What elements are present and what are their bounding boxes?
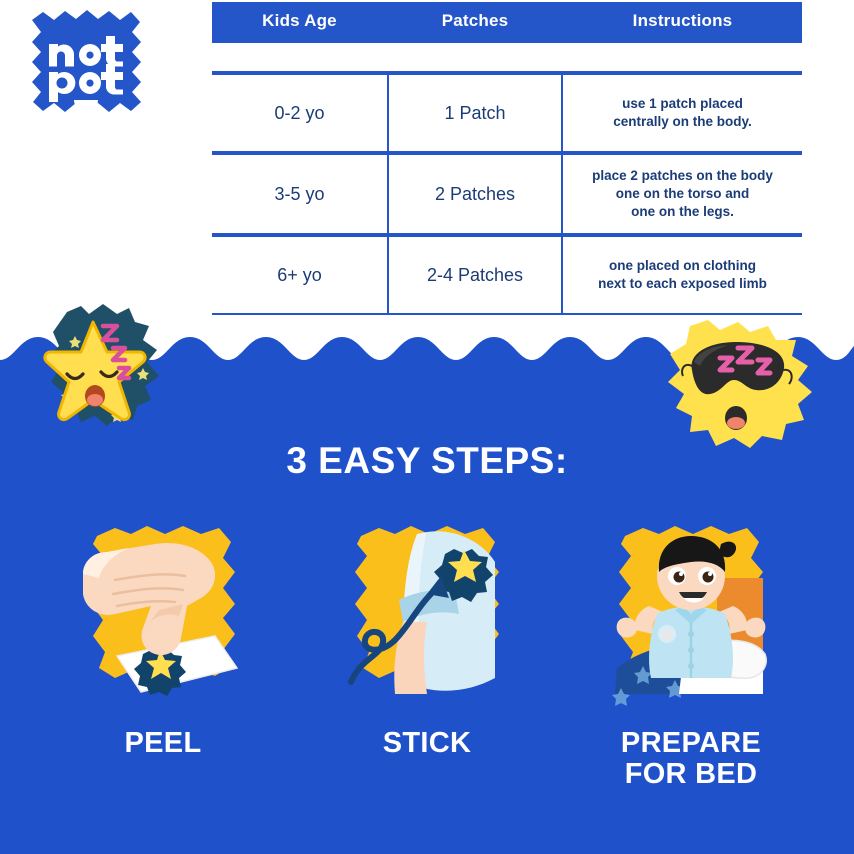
child-in-bed-icon	[587, 518, 795, 714]
cell-instructions: one placed on clothingnext to each expos…	[563, 235, 802, 315]
header-spacer-cell	[212, 41, 802, 73]
dosage-table: Kids Age Patches Instructions 0-2 yo 1 P…	[212, 2, 802, 315]
col-header-instructions: Instructions	[563, 2, 802, 41]
table-body: 0-2 yo 1 Patch use 1 patch placedcentral…	[212, 41, 802, 315]
natpat-logo[interactable]	[22, 4, 148, 126]
cell-patches: 2 Patches	[387, 153, 563, 235]
table-head: Kids Age Patches Instructions	[212, 2, 802, 41]
col-header-patches: Patches	[387, 2, 563, 41]
step-stick: STICK	[311, 518, 543, 791]
cell-instructions: use 1 patch placedcentrally on the body.	[563, 73, 802, 153]
cell-patches: 1 Patch	[387, 73, 563, 153]
cell-age: 3-5 yo	[212, 153, 387, 235]
patch-on-child	[658, 625, 676, 643]
dosage-table-wrapper: Kids Age Patches Instructions 0-2 yo 1 P…	[212, 2, 778, 286]
smile-icon	[74, 100, 98, 112]
hand-peeling-patch-icon	[59, 518, 267, 714]
table-row: 6+ yo 2-4 Patches one placed on clothing…	[212, 235, 802, 315]
cell-age: 6+ yo	[212, 235, 387, 315]
sleeping-star-sticker	[33, 296, 173, 436]
sleep-mask-sticker	[650, 318, 820, 452]
table-header-row: Kids Age Patches Instructions	[212, 2, 802, 41]
step-label: STICK	[383, 728, 472, 759]
page-title: 3 EASY STEPS:	[0, 440, 854, 482]
step-prepare-for-bed: PREPAREFOR BED	[575, 518, 807, 791]
mask-tongue	[727, 417, 745, 429]
table-row: 0-2 yo 1 Patch use 1 patch placedcentral…	[212, 73, 802, 153]
patch-on-pajama-icon	[323, 518, 531, 714]
cell-instructions: place 2 patches on the bodyone on the to…	[563, 153, 802, 235]
step-label: PREPAREFOR BED	[621, 728, 761, 791]
steps-row: PEEL	[0, 518, 854, 791]
star-tongue	[87, 394, 103, 406]
poster-canvas: Kids Age Patches Instructions 0-2 yo 1 P…	[0, 0, 854, 854]
steps-section: PEEL	[0, 518, 854, 791]
header-spacer-row	[212, 41, 802, 73]
step-label: PEEL	[125, 728, 202, 759]
step-peel: PEEL	[47, 518, 279, 791]
col-header-kids-age: Kids Age	[212, 2, 387, 41]
table-row: 3-5 yo 2 Patches place 2 patches on the …	[212, 153, 802, 235]
cell-patches: 2-4 Patches	[387, 235, 563, 315]
cell-age: 0-2 yo	[212, 73, 387, 153]
